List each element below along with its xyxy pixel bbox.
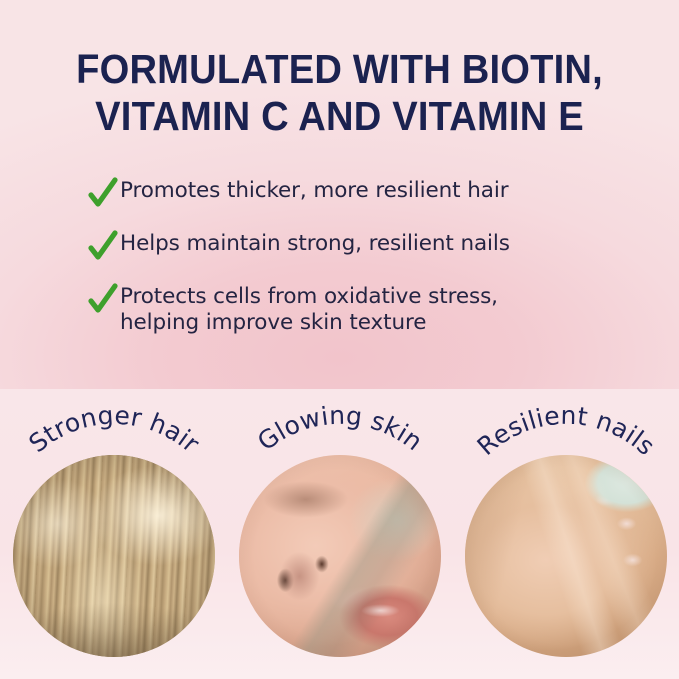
feature-caption: Stronger hair: [23, 401, 205, 459]
feature-caption: Resilient nails: [472, 401, 661, 461]
check-icon: [88, 283, 118, 317]
benefit-text: Promotes thicker, more resilient hair: [120, 176, 508, 204]
page-title: FORMULATED WITH BIOTIN, VITAMIN C AND VI…: [24, 46, 655, 140]
feature-glowing-skin: Glowing skin: [227, 389, 453, 679]
list-item: Protects cells from oxidative stress, he…: [88, 282, 648, 336]
hair-photo: [13, 455, 215, 657]
nails-photo: [465, 455, 667, 657]
check-icon: [88, 230, 118, 264]
benefit-text: Protects cells from oxidative stress, he…: [120, 282, 498, 336]
check-icon: [88, 177, 118, 211]
list-item: Helps maintain strong, resilient nails: [88, 229, 648, 264]
feature-caption: Glowing skin: [252, 401, 428, 457]
skin-photo: [239, 455, 441, 657]
feature-stronger-hair: Stronger hair: [1, 389, 227, 679]
benefits-list: Promotes thicker, more resilient hair He…: [88, 176, 648, 336]
feature-resilient-nails: Resilient nails: [453, 389, 679, 679]
product-benefits-infographic: FORMULATED WITH BIOTIN, VITAMIN C AND VI…: [0, 0, 679, 679]
benefit-text: Helps maintain strong, resilient nails: [120, 229, 510, 257]
features-panel: Stronger hair Glowing skin: [0, 389, 679, 679]
list-item: Promotes thicker, more resilient hair: [88, 176, 648, 211]
headline-panel: FORMULATED WITH BIOTIN, VITAMIN C AND VI…: [0, 0, 679, 389]
